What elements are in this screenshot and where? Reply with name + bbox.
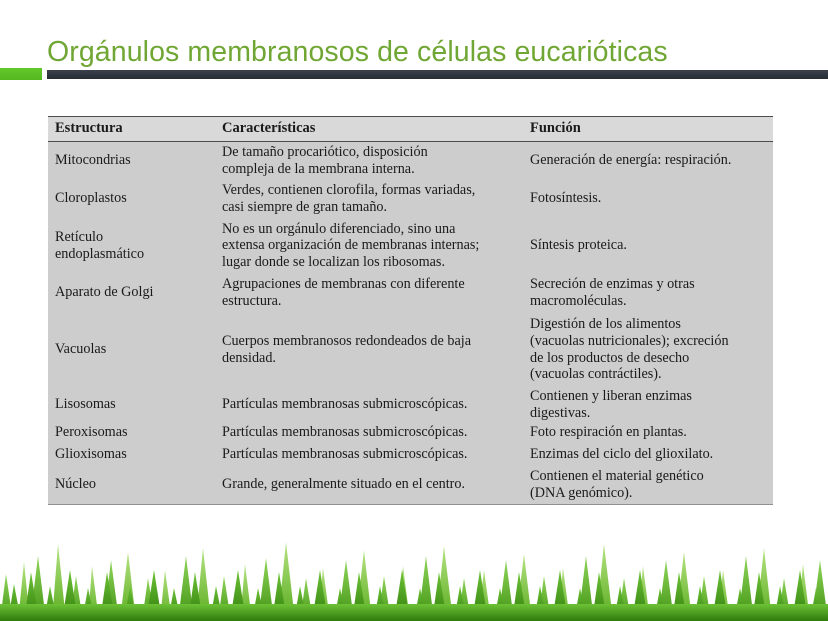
text-line: Partículas membranosas submicroscópicas. xyxy=(222,446,517,463)
text-line: (vacuolas nutricionales); excreción xyxy=(530,333,767,350)
table-row: Aparato de Golgi Agrupaciones de membran… xyxy=(48,274,773,312)
cell-estructura: Mitocondrias xyxy=(48,141,215,180)
cell-estructura: Cloroplastos xyxy=(48,180,215,218)
table-header-row: Estructura Características Función xyxy=(48,117,773,142)
cell-funcion: Síntesis proteica. xyxy=(523,218,773,274)
text-line: macromoléculas. xyxy=(530,293,767,310)
text-line: Digestión de los alimentos xyxy=(530,316,767,333)
title-accent-green-bar xyxy=(0,68,42,80)
column-header-caracteristicas: Características xyxy=(215,117,523,142)
cell-estructura: Retículo endoplasmático xyxy=(48,218,215,274)
grass-decoration xyxy=(0,526,828,621)
table-body: Mitocondrias De tamaño procariótico, dis… xyxy=(48,141,773,504)
text-line: Verdes, contienen clorofila, formas vari… xyxy=(222,182,517,199)
text-line: (DNA genómico). xyxy=(530,485,767,502)
text-line: lugar donde se localizan los ribosomas. xyxy=(222,254,517,271)
cell-estructura: Aparato de Golgi xyxy=(48,274,215,312)
text-line: Contienen el material genético xyxy=(530,468,767,485)
text-line: De tamaño procariótico, disposición xyxy=(222,144,517,161)
text-line: Síntesis proteica. xyxy=(530,237,767,254)
text-line: estructura. xyxy=(222,293,517,310)
text-line: Grande, generalmente situado en el centr… xyxy=(222,476,517,493)
text-line: Cuerpos membranosos redondeados de baja xyxy=(222,333,517,350)
text-line: endoplasmático xyxy=(55,246,209,263)
text-line: compleja de la membrana interna. xyxy=(222,161,517,178)
cell-caracteristicas: Partículas membranosas submicroscópicas. xyxy=(215,422,523,444)
cell-caracteristicas: De tamaño procariótico, disposición comp… xyxy=(215,141,523,180)
cell-estructura: Núcleo xyxy=(48,466,215,505)
text-line: (vacuolas contráctiles). xyxy=(530,366,767,383)
text-line: casi siempre de gran tamaño. xyxy=(222,199,517,216)
text-line: Generación de energía: respiración. xyxy=(530,152,767,169)
text-line: No es un orgánulo diferenciado, sino una xyxy=(222,221,517,238)
text-line: Contienen y liberan enzimas xyxy=(530,388,767,405)
cell-funcion: Contienen el material genético (DNA genó… xyxy=(523,466,773,505)
table-row: Peroxisomas Partículas membranosas submi… xyxy=(48,422,773,444)
text-line: extensa organización de membranas intern… xyxy=(222,237,517,254)
cell-caracteristicas: No es un orgánulo diferenciado, sino una… xyxy=(215,218,523,274)
column-header-funcion: Función xyxy=(523,117,773,142)
cell-funcion: Enzimas del ciclo del glioxilato. xyxy=(523,444,773,466)
text-line: Retículo xyxy=(55,229,209,246)
text-line: Enzimas del ciclo del glioxilato. xyxy=(530,446,767,463)
cell-funcion: Contienen y liberan enzimas digestivas. xyxy=(523,388,773,422)
cell-caracteristicas: Partículas membranosas submicroscópicas. xyxy=(215,444,523,466)
page-title: Orgánulos membranosos de células eucarió… xyxy=(47,36,668,69)
cell-funcion: Generación de energía: respiración. xyxy=(523,141,773,180)
title-accent-dark-bar xyxy=(47,70,828,79)
cell-funcion: Fotosíntesis. xyxy=(523,180,773,218)
text-line: Partículas membranosas submicroscópicas. xyxy=(222,396,517,413)
cell-funcion: Secreción de enzimas y otras macromolécu… xyxy=(523,274,773,312)
text-line: Fotosíntesis. xyxy=(530,190,767,207)
table-header: Estructura Características Función xyxy=(48,117,773,142)
cell-caracteristicas: Grande, generalmente situado en el centr… xyxy=(215,466,523,505)
text-line: Foto respiración en plantas. xyxy=(530,424,767,441)
cell-funcion: Digestión de los alimentos (vacuolas nut… xyxy=(523,312,773,388)
cell-funcion: Foto respiración en plantas. xyxy=(523,422,773,444)
column-header-estructura: Estructura xyxy=(48,117,215,142)
text-line: Partículas membranosas submicroscópicas. xyxy=(222,424,517,441)
text-line: de los productos de desecho xyxy=(530,350,767,367)
cell-caracteristicas: Partículas membranosas submicroscópicas. xyxy=(215,388,523,422)
text-line: Secreción de enzimas y otras xyxy=(530,276,767,293)
table-row: Lisosomas Partículas membranosas submicr… xyxy=(48,388,773,422)
table-row: Núcleo Grande, generalmente situado en e… xyxy=(48,466,773,505)
cell-estructura: Vacuolas xyxy=(48,312,215,388)
cell-caracteristicas: Agrupaciones de membranas con diferente … xyxy=(215,274,523,312)
table-row: Cloroplastos Verdes, contienen clorofila… xyxy=(48,180,773,218)
cell-estructura: Lisosomas xyxy=(48,388,215,422)
table-row: Retículo endoplasmático No es un orgánul… xyxy=(48,218,773,274)
cell-caracteristicas: Verdes, contienen clorofila, formas vari… xyxy=(215,180,523,218)
cell-estructura: Peroxisomas xyxy=(48,422,215,444)
text-line: digestivas. xyxy=(530,405,767,422)
cell-caracteristicas: Cuerpos membranosos redondeados de baja … xyxy=(215,312,523,388)
organelles-table: Estructura Características Función Mitoc… xyxy=(48,116,773,505)
text-line: Agrupaciones de membranas con diferente xyxy=(222,276,517,293)
slide: Orgánulos membranosos de células eucarió… xyxy=(0,0,828,621)
text-line: densidad. xyxy=(222,350,517,367)
table-row: Glioxisomas Partículas membranosas submi… xyxy=(48,444,773,466)
cell-estructura: Glioxisomas xyxy=(48,444,215,466)
table-row: Mitocondrias De tamaño procariótico, dis… xyxy=(48,141,773,180)
organelles-table-container: Estructura Características Función Mitoc… xyxy=(48,116,773,505)
table-row: Vacuolas Cuerpos membranosos redondeados… xyxy=(48,312,773,388)
grass-icon xyxy=(0,526,828,621)
